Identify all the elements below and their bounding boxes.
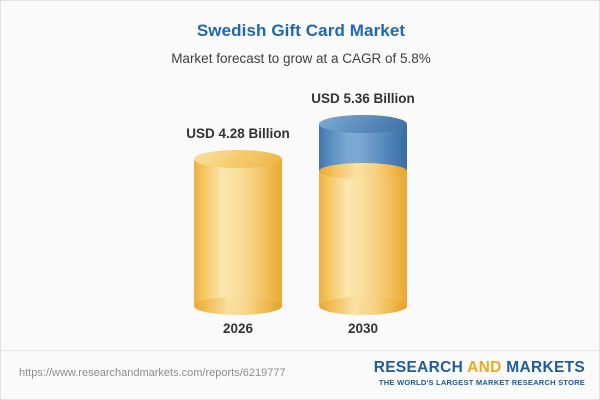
cylinder-2026 bbox=[194, 159, 282, 306]
bar-segment-base-2026 bbox=[194, 159, 282, 306]
brand-logo[interactable]: RESEARCH AND MARKETS THE WORLD'S LARGEST… bbox=[374, 359, 585, 387]
cylinder-top-cap bbox=[194, 150, 282, 168]
category-label-2026: 2026 bbox=[223, 321, 253, 336]
chart-card: Swedish Gift Card Market Market forecast… bbox=[0, 0, 600, 400]
cylinder-junction-cap bbox=[319, 163, 407, 179]
cylinder-bottom-cap bbox=[319, 297, 407, 315]
logo-markets-text: MARKETS bbox=[506, 359, 585, 376]
logo-tagline: THE WORLD'S LARGEST MARKET RESEARCH STOR… bbox=[374, 378, 585, 387]
bar-value-label-2030: USD 5.36 Billion bbox=[311, 91, 415, 106]
category-label-2030: 2030 bbox=[348, 321, 378, 336]
bar-group-2030[interactable]: USD 5.36 Billion 2030 bbox=[319, 124, 407, 306]
cylinder-2030 bbox=[319, 124, 407, 306]
logo-and-text: AND bbox=[467, 359, 506, 376]
footer: https://www.researchandmarkets.com/repor… bbox=[1, 350, 600, 399]
bar-segment-growth-2030 bbox=[319, 124, 407, 171]
logo-wordmark: RESEARCH AND MARKETS bbox=[374, 359, 585, 377]
cylinder-bottom-cap bbox=[194, 297, 282, 315]
bar-group-2026[interactable]: USD 4.28 Billion 2026 bbox=[194, 159, 282, 306]
plot-area: USD 4.28 Billion 2026 USD 5.36 Billion bbox=[1, 1, 600, 353]
report-url[interactable]: https://www.researchandmarkets.com/repor… bbox=[19, 367, 286, 379]
logo-research-text: RESEARCH bbox=[374, 359, 467, 376]
cylinder-top-cap bbox=[319, 115, 407, 133]
bar-segment-base-2030 bbox=[319, 171, 407, 306]
bar-value-label-2026: USD 4.28 Billion bbox=[186, 126, 290, 141]
